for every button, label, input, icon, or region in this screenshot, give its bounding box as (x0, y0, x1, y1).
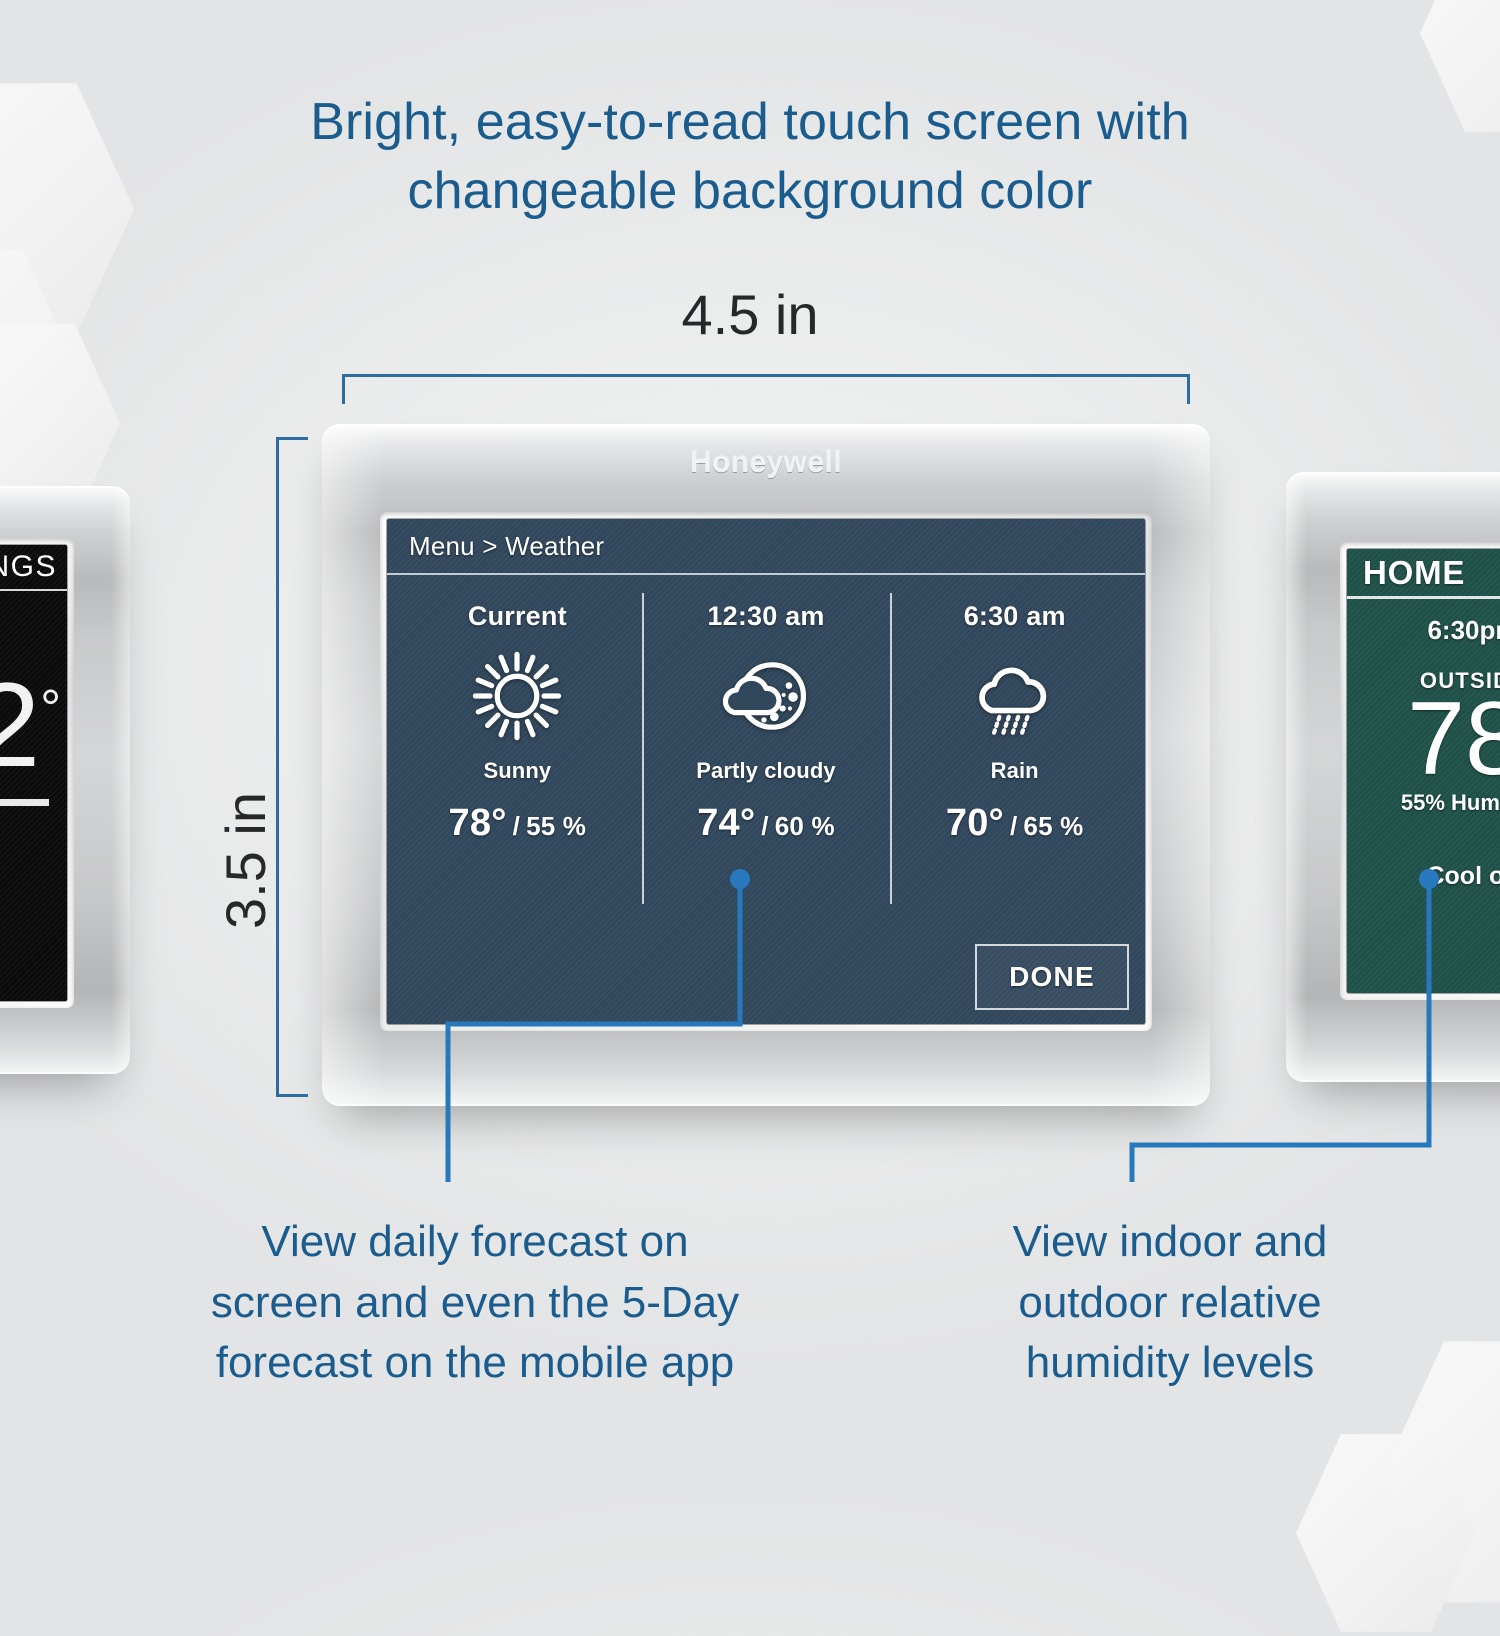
left-screen-temperature: 2° (0, 677, 67, 773)
right-screen-temperature: 78° (1347, 692, 1500, 788)
right-screen-body: 6:30pm OUTSIDE 78° 55% Humidity Cool on (1347, 599, 1500, 891)
thermostat-main-screen-recess: Menu > Weather Current (380, 512, 1152, 1031)
thermostat-right-screen-recess: HOME 6:30pm OUTSIDE 78° 55% Humidity Coo… (1340, 542, 1500, 1000)
right-screen-humidity: 55% Humidity (1347, 790, 1500, 816)
hexagon-shape (1296, 1430, 1476, 1636)
honeywell-logo: Honeywell (322, 424, 1210, 502)
height-dimension-text: 3.5 in (213, 792, 278, 929)
thermostat-left: NGS 2° (0, 486, 130, 1074)
moon-cloud-icon (712, 644, 820, 748)
cloud-rain-icon (961, 644, 1069, 748)
width-dimension-label: 4.5 in (0, 282, 1500, 347)
caption-right-line-3: humidity levels (890, 1333, 1450, 1394)
thermostat-right: HOME 6:30pm OUTSIDE 78° 55% Humidity Coo… (1286, 472, 1500, 1082)
forecast-time: 12:30 am (707, 601, 824, 632)
thermostat-main-bezel: Honeywell Menu > Weather Current (322, 424, 1210, 1106)
thermostat-right-bezel: HOME 6:30pm OUTSIDE 78° 55% Humidity Coo… (1286, 472, 1500, 1082)
thermostat-left-screen[interactable]: NGS 2° (0, 545, 67, 1001)
forecast-values: 78° / 55 % (449, 802, 587, 845)
caption-left-line-1: View daily forecast on (60, 1212, 890, 1273)
caption-left: View daily forecast on screen and even t… (60, 1212, 890, 1394)
forecast-condition: Rain (991, 758, 1039, 784)
forecast-column-midnight[interactable]: 12:30 am (642, 589, 891, 1022)
forecast-temperature: 78° (449, 802, 507, 845)
breadcrumb[interactable]: Menu > Weather (387, 519, 1145, 575)
forecast-condition: Partly cloudy (696, 758, 835, 784)
left-screen-dash (0, 799, 49, 806)
forecast-separator: / (1010, 811, 1017, 842)
forecast-humidity: 60 % (775, 811, 835, 842)
forecast-separator: / (513, 811, 520, 842)
right-screen-title: HOME (1347, 549, 1500, 599)
done-button[interactable]: DONE (975, 944, 1129, 1010)
forecast-values: 70° / 65 % (946, 802, 1084, 845)
headline-line-2: changeable background color (0, 157, 1500, 226)
thermostat-main-screen[interactable]: Menu > Weather Current (387, 519, 1145, 1024)
forecast-column-current[interactable]: Current (393, 589, 642, 1022)
forecast-humidity: 65 % (1023, 811, 1083, 842)
height-dimension-bracket (276, 437, 308, 1097)
left-temp-value: 2 (0, 677, 40, 773)
caption-left-line-2: screen and even the 5-Day (60, 1273, 890, 1334)
right-screen-time: 6:30pm (1347, 615, 1500, 646)
left-temp-degree: ° (40, 683, 61, 735)
forecast-time: 6:30 am (964, 601, 1066, 632)
forecast-separator: / (761, 811, 768, 842)
page-headline: Bright, easy-to-read touch screen with c… (0, 88, 1500, 225)
forecast-humidity: 55 % (526, 811, 586, 842)
forecast-time: Current (468, 601, 567, 632)
right-temp-value: 78 (1407, 692, 1500, 788)
forecast-temperature: 74° (697, 802, 755, 845)
headline-line-1: Bright, easy-to-read touch screen with (0, 88, 1500, 157)
thermostat-right-screen[interactable]: HOME 6:30pm OUTSIDE 78° 55% Humidity Coo… (1347, 549, 1500, 993)
right-screen-status: Cool on (1347, 862, 1500, 891)
caption-right: View indoor and outdoor relative humidit… (890, 1212, 1450, 1394)
left-screen-title: NGS (0, 545, 67, 591)
thermostat-left-bezel: NGS 2° (0, 486, 130, 1074)
sun-icon (463, 644, 571, 748)
thermostat-left-screen-recess: NGS 2° (0, 538, 74, 1008)
caption-right-line-2: outdoor relative (890, 1273, 1450, 1334)
caption-left-line-3: forecast on the mobile app (60, 1333, 890, 1394)
forecast-values: 74° / 60 % (697, 802, 835, 845)
forecast-temperature: 70° (946, 802, 1004, 845)
width-dimension-bracket (342, 374, 1190, 404)
caption-right-line-1: View indoor and (890, 1212, 1450, 1273)
forecast-condition: Sunny (483, 758, 551, 784)
thermostat-main: Honeywell Menu > Weather Current (322, 424, 1210, 1106)
